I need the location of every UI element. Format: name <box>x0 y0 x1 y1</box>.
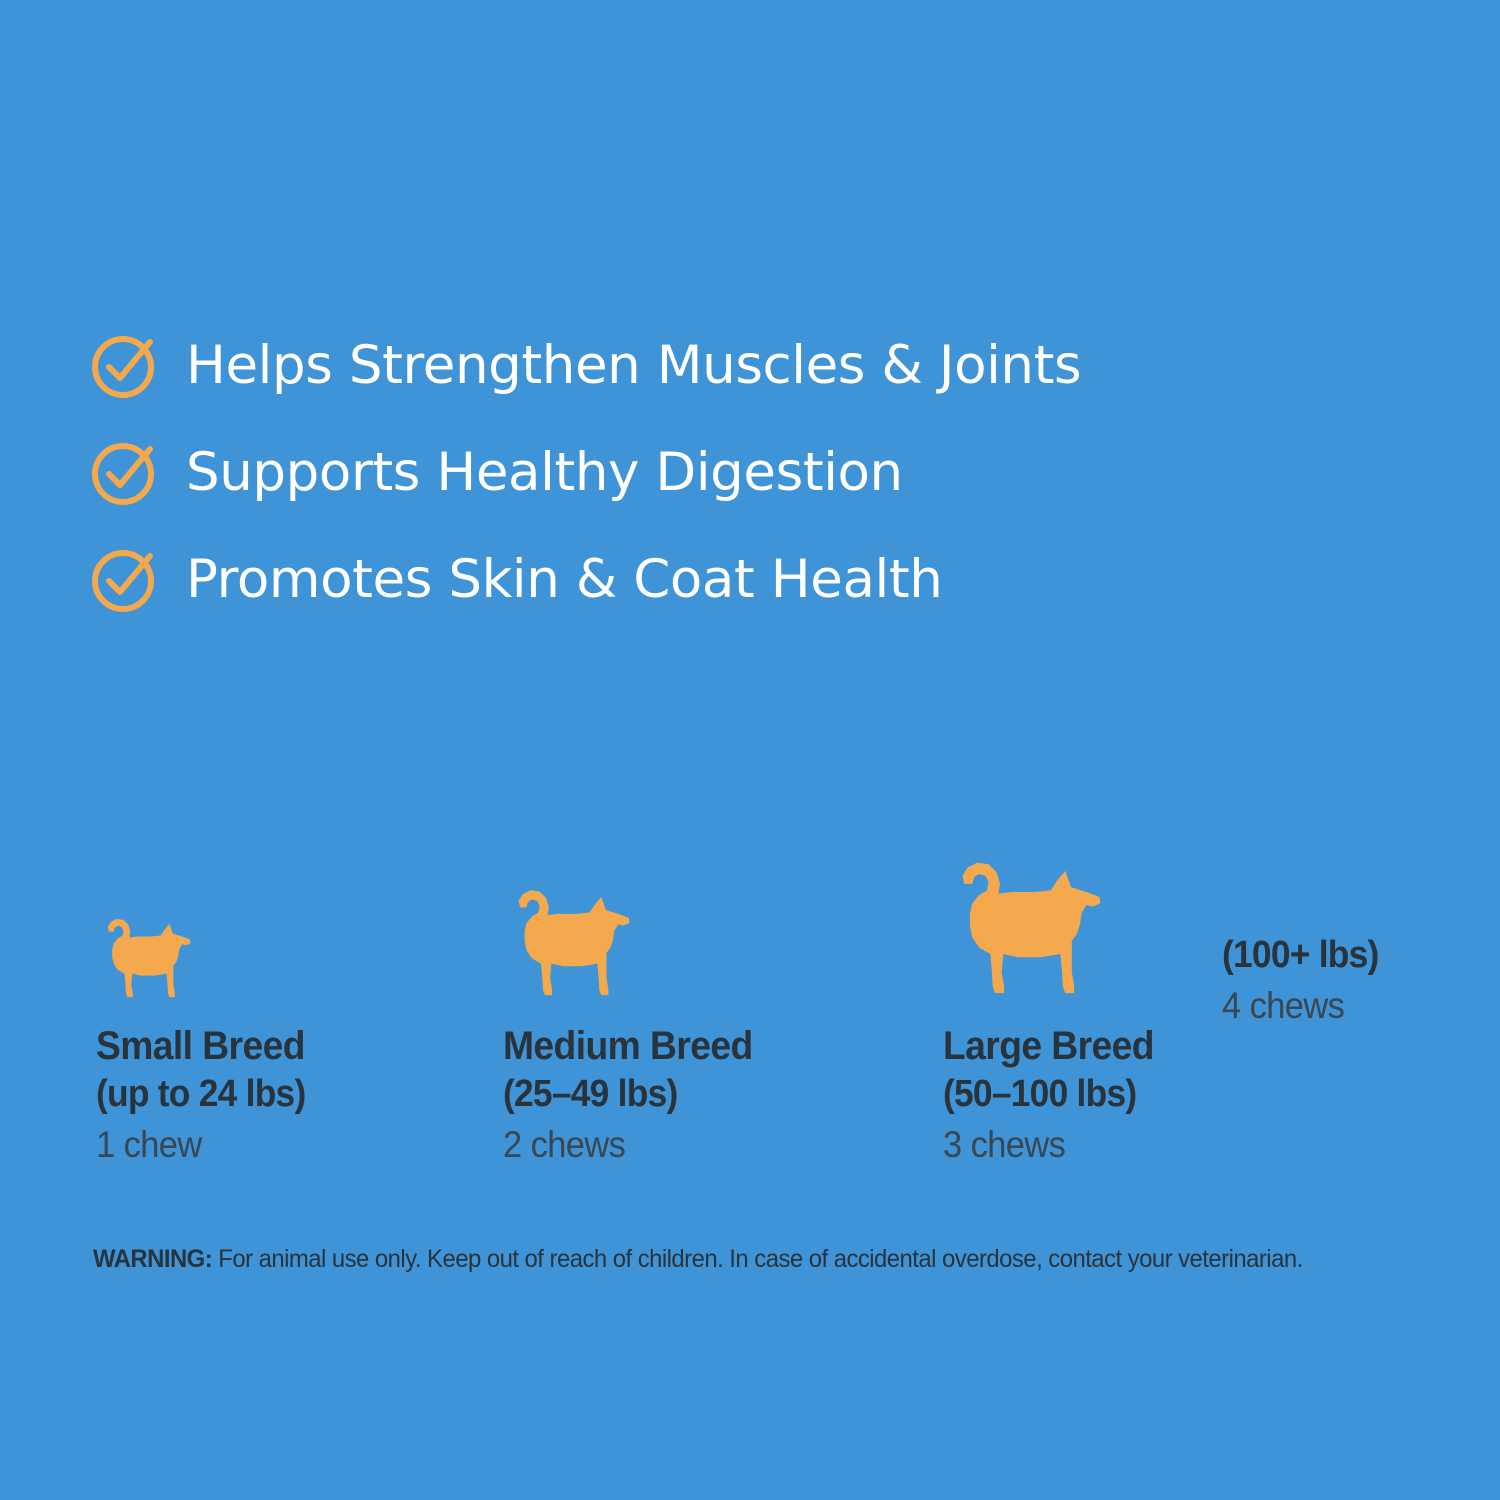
warning-body: For animal use only. Keep out of reach o… <box>212 1245 1303 1273</box>
dosage-text-block: Small Breed (up to 24 lbs) 1 chew <box>96 1003 496 1165</box>
warning-label: WARNING: <box>93 1245 212 1273</box>
breed-dose: 4 chews <box>1222 985 1473 1026</box>
warning-text: WARNING: For animal use only. Keep out o… <box>93 1246 1373 1274</box>
benefit-label: Promotes Skin & Coat Health <box>186 553 942 606</box>
dog-icon-wrap <box>503 855 923 1003</box>
breed-weight: (up to 24 lbs) <box>96 1073 468 1116</box>
dog-silhouette-icon <box>943 856 1106 1003</box>
breed-title: Small Breed <box>96 1025 468 1067</box>
dosage-column-medium: Medium Breed (25–49 lbs) 2 chews <box>503 855 923 1165</box>
product-benefits-panel: Helps Strengthen Muscles & Joints Suppor… <box>0 0 1500 1500</box>
breed-title: Large Breed <box>943 1025 1213 1067</box>
dosage-chart: Small Breed (up to 24 lbs) 1 chew Medium… <box>0 855 1500 1205</box>
benefit-item: Promotes Skin & Coat Health <box>90 526 1390 633</box>
benefit-label: Supports Healthy Digestion <box>186 446 903 499</box>
benefit-item: Helps Strengthen Muscles & Joints <box>90 312 1390 419</box>
dosage-text-block: Medium Breed (25–49 lbs) 2 chews <box>503 1003 923 1165</box>
benefits-list: Helps Strengthen Muscles & Joints Suppor… <box>90 312 1390 633</box>
dosage-text-block: (100+ lbs) 4 chews <box>1222 906 1492 1026</box>
benefit-item: Supports Healthy Digestion <box>90 419 1390 526</box>
dog-silhouette-icon <box>503 885 634 1003</box>
breed-weight: (25–49 lbs) <box>503 1073 894 1116</box>
check-circle-icon <box>90 546 158 614</box>
breed-title: Medium Breed <box>503 1025 894 1067</box>
breed-dose: 2 chews <box>503 1124 894 1165</box>
breed-weight: (100+ lbs) <box>1222 934 1473 977</box>
dog-icon-wrap <box>96 855 496 1003</box>
breed-dose: 3 chews <box>943 1124 1213 1165</box>
dosage-column-large: Large Breed (50–100 lbs) 3 chews <box>943 855 1233 1165</box>
breed-dose: 1 chew <box>96 1124 468 1165</box>
check-circle-icon <box>90 439 158 507</box>
dosage-text-block: Large Breed (50–100 lbs) 3 chews <box>943 1003 1233 1165</box>
breed-weight: (50–100 lbs) <box>943 1073 1213 1116</box>
dog-silhouette-icon <box>96 915 194 1003</box>
benefit-label: Helps Strengthen Muscles & Joints <box>186 339 1081 392</box>
dog-icon-wrap <box>943 855 1233 1003</box>
check-circle-icon <box>90 332 158 400</box>
dosage-column-extra-large: (100+ lbs) 4 chews <box>1222 855 1492 1026</box>
dosage-column-small: Small Breed (up to 24 lbs) 1 chew <box>96 855 496 1165</box>
